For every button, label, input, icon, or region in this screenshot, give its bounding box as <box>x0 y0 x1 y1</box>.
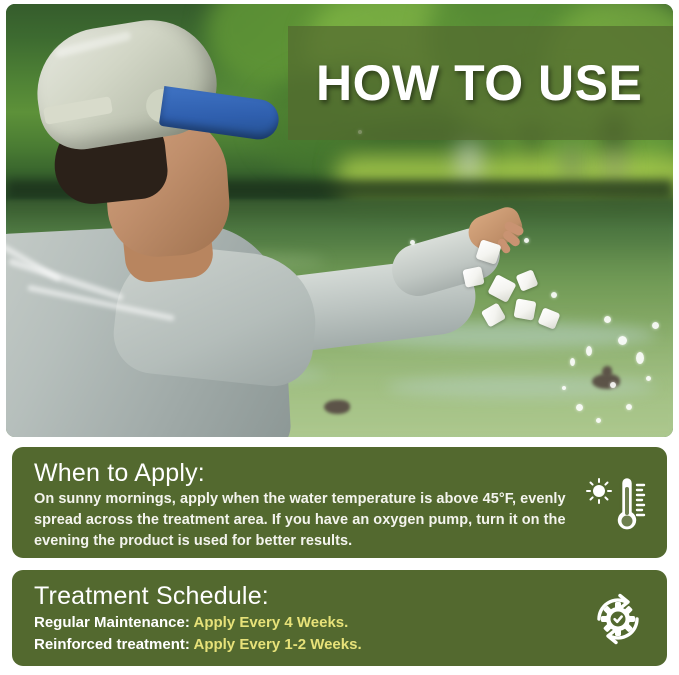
water-droplet <box>586 346 592 356</box>
water-droplet <box>551 292 557 298</box>
water-droplet <box>576 404 583 411</box>
water-droplet <box>646 376 651 381</box>
when-to-apply-panel: When to Apply: On sunny mornings, apply … <box>12 447 667 558</box>
product-tablet <box>514 298 537 320</box>
page-title: HOW TO USE <box>288 54 642 112</box>
water-droplet <box>626 404 632 410</box>
hero-title-band: HOW TO USE <box>288 26 673 140</box>
schedule-row: Reinforced treatment: Apply Every 1-2 We… <box>34 634 645 656</box>
thermometer-sun-icon <box>585 471 647 542</box>
background-person <box>562 144 582 182</box>
when-to-apply-body: On sunny mornings, apply when the water … <box>34 489 594 552</box>
water-droplet <box>524 238 529 243</box>
water-droplet <box>410 240 415 245</box>
water-droplet <box>604 316 611 323</box>
treatment-schedule-panel: Treatment Schedule: Regular Maintenance:… <box>12 570 667 666</box>
water-droplet <box>636 352 644 364</box>
water-droplet <box>618 336 627 345</box>
water-droplet <box>652 322 659 329</box>
product-tablet <box>462 266 484 288</box>
schedule-row-label: Reinforced treatment: <box>34 636 190 653</box>
when-to-apply-heading: When to Apply: <box>34 457 645 489</box>
water-droplet <box>596 418 601 423</box>
schedule-row: Regular Maintenance: Apply Every 4 Weeks… <box>34 612 645 634</box>
how-to-use-infographic: HOW TO USE When to Apply: On sunny morni… <box>0 0 679 675</box>
schedule-row-value: Apply Every 4 Weeks. <box>194 614 349 631</box>
duck <box>602 366 612 378</box>
treatment-schedule-heading: Treatment Schedule: <box>34 580 645 612</box>
background-person <box>606 146 624 182</box>
gear-refresh-check-icon <box>589 590 647 653</box>
water-droplet <box>570 358 575 366</box>
hero-photo: HOW TO USE <box>6 4 673 437</box>
schedule-row-value: Apply Every 1-2 Weeks. <box>193 636 361 653</box>
water-droplet <box>562 386 566 390</box>
schedule-row-label: Regular Maintenance: <box>34 614 190 631</box>
water-droplet <box>610 382 616 388</box>
